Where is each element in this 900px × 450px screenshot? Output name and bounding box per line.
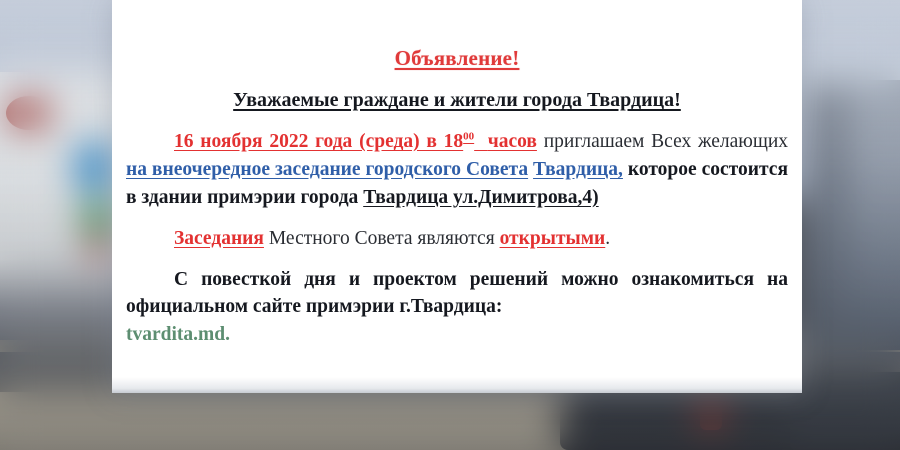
announcement-greeting: Уважаемые граждане и жители города Твард… xyxy=(126,89,788,112)
spacer-1 xyxy=(537,131,544,152)
invite-verb: приглашаем xyxy=(544,131,645,152)
meeting-link-line-1[interactable]: на внеочередное заседание городского Сов… xyxy=(126,159,528,180)
announcement-title: Объявление! xyxy=(126,46,788,71)
meeting-time-superscript: 00 xyxy=(463,131,474,143)
meeting-hours-word xyxy=(474,131,488,152)
announcement-slide: Объявление! Уважаемые граждане и жители … xyxy=(0,0,900,450)
meeting-link-line-2[interactable]: Твардица, xyxy=(533,159,623,180)
announcement-paragraph-agenda: С повесткой дня и проектом решений можно… xyxy=(126,266,788,350)
meeting-address: Твардица ул.Димитрова,4) xyxy=(363,187,598,208)
document-body: Объявление! Уважаемые граждане и жители … xyxy=(112,0,802,393)
meetings-period: . xyxy=(605,228,610,249)
meetings-open-word: открытыми xyxy=(500,228,606,249)
meeting-hours-label: часов xyxy=(488,131,537,152)
official-website-link[interactable]: tvardita.md. xyxy=(126,321,788,349)
meetings-middle-text: Местного Совета являются xyxy=(264,228,500,249)
announcement-paragraph-open-meetings: Заседания Местного Совета являются откры… xyxy=(126,225,788,253)
document-panel: Объявление! Уважаемые граждане и жители … xyxy=(112,0,802,393)
meetings-word: Заседания xyxy=(174,228,264,249)
announcement-paragraph-invitation: 16 ноября 2022 года (среда) в 1800 часов… xyxy=(126,128,788,212)
invite-audience: Всех желающих xyxy=(651,131,788,152)
meeting-date-time: 16 ноября 2022 года (среда) в 18 xyxy=(174,131,463,152)
agenda-text: С повесткой дня и проектом решений можно… xyxy=(126,269,788,318)
